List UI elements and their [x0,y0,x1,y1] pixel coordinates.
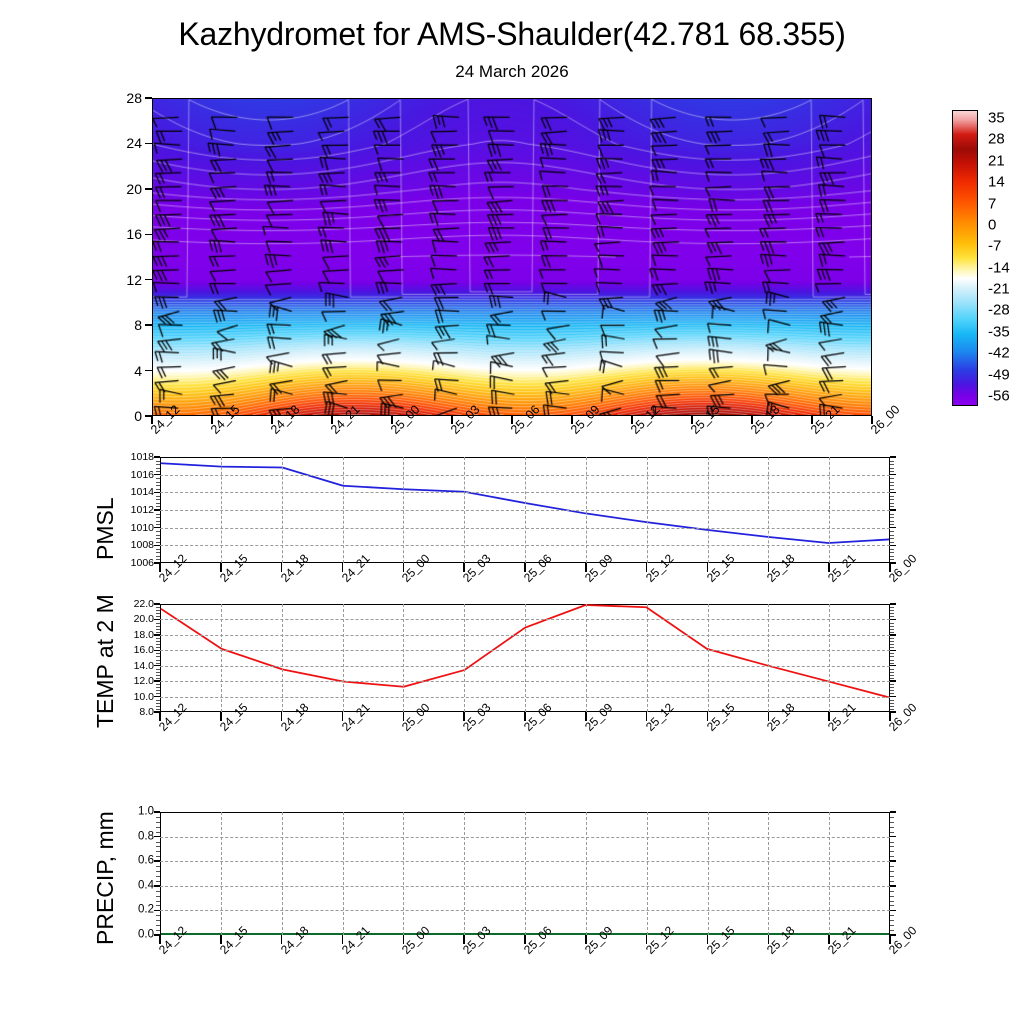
y-minor-tick [156,629,160,630]
y-minor-tick [890,817,894,818]
y-minor-tick [156,690,160,691]
y-minor-tick [890,905,894,906]
y-minor-tick [890,468,894,469]
y-tick-label: 16.0 [112,645,154,656]
y-minor-tick [890,647,894,648]
y-minor-tick [156,656,160,657]
y-minor-tick [156,693,160,694]
y-minor-tick [890,709,894,710]
colorbar-tick-label: 7 [988,196,996,211]
cross-section-plot [152,98,872,416]
y-minor-tick [890,461,894,462]
y-tick-label: 0.6 [112,855,154,867]
y-tick-label: 22.0 [112,599,154,610]
y-minor-tick [156,822,160,823]
y-minor-tick [156,653,160,654]
page-subtitle: 24 March 2026 [0,62,1024,82]
y-minor-tick [156,559,160,560]
colorbar-tick-label: -14 [988,260,1010,275]
y-minor-tick [156,675,160,676]
y-tick-mark [890,665,896,667]
y-tick-mark [890,562,896,564]
grid-line [708,812,709,935]
y-minor-tick [156,660,160,661]
y-minor-tick [890,503,894,504]
y-minor-tick [890,678,894,679]
y-minor-tick [890,556,894,557]
grid-line [586,604,587,712]
y-minor-tick [156,485,160,486]
y-minor-tick [890,703,894,704]
y-tick-label: 0.2 [112,905,154,917]
grid-line [403,604,404,712]
colorbar-tick-label: -56 [988,389,1010,404]
y-minor-tick [890,641,894,642]
y-minor-tick [156,461,160,462]
y-minor-tick [156,471,160,472]
grid-line [464,812,465,935]
y-tick-label: 1018 [112,452,154,463]
y-minor-tick [156,517,160,518]
y-minor-tick [890,822,894,823]
colorbar-tick-label: 21 [988,153,1005,168]
y-minor-tick [156,832,160,833]
y-minor-tick [156,678,160,679]
y-tick-mark [890,619,896,621]
y-tick-mark [154,811,160,813]
y-minor-tick [156,817,160,818]
y-minor-tick [890,629,894,630]
y-minor-tick [890,499,894,500]
grid-line [282,457,283,563]
y-tick-label: 1012 [112,505,154,516]
y-minor-tick [890,531,894,532]
y-minor-tick [156,464,160,465]
y-minor-tick [156,856,160,857]
grid-line [282,812,283,935]
y-tick-label: 12 [112,273,142,287]
page-title: Kazhydromet for AMS-Shaulder(42.781 68.3… [0,16,1024,53]
y-minor-tick [890,915,894,916]
grid-line [282,604,283,712]
cross-section-canvas [153,99,871,415]
y-minor-tick [156,499,160,500]
y-minor-tick [890,610,894,611]
y-tick-mark [890,545,896,547]
y-minor-tick [156,842,160,843]
y-minor-tick [890,925,894,926]
y-minor-tick [156,503,160,504]
y-tick-label: 4 [112,364,142,378]
y-minor-tick [156,687,160,688]
y-tick-mark [890,650,896,652]
y-tick-label: 0.8 [112,831,154,843]
y-minor-tick [890,832,894,833]
y-minor-tick [156,489,160,490]
grid-line [343,604,344,712]
y-minor-tick [156,616,160,617]
grid-line [343,457,344,563]
y-tick-label: 1016 [112,469,154,480]
y-minor-tick [156,623,160,624]
y-minor-tick [156,552,160,553]
y-minor-tick [156,925,160,926]
y-tick-mark [890,696,896,698]
y-minor-tick [890,521,894,522]
y-tick-mark [145,188,152,190]
grid-line [768,457,769,563]
temperature-colorbar [952,110,978,406]
y-minor-tick [156,626,160,627]
y-tick-label: 8.0 [112,707,154,718]
y-minor-tick [890,524,894,525]
y-minor-tick [890,672,894,673]
x-tick-label: 26_00 [868,402,902,436]
y-minor-tick [890,656,894,657]
y-minor-tick [156,846,160,847]
y-minor-tick [890,607,894,608]
y-minor-tick [890,549,894,550]
y-minor-tick [156,669,160,670]
y-minor-tick [156,703,160,704]
y-tick-label: 0 [112,409,142,423]
y-minor-tick [890,901,894,902]
y-minor-tick [890,871,894,872]
y-tick-label: 0.0 [112,929,154,941]
y-minor-tick [890,684,894,685]
y-tick-label: 24 [112,136,142,150]
y-minor-tick [890,506,894,507]
y-tick-mark [890,910,896,912]
grid-line [768,604,769,712]
y-tick-mark [890,680,896,682]
y-minor-tick [156,896,160,897]
y-tick-label: 1010 [112,522,154,533]
y-minor-tick [156,524,160,525]
y-minor-tick [156,647,160,648]
y-minor-tick [156,709,160,710]
y-minor-tick [890,478,894,479]
y-minor-tick [890,482,894,483]
forecast-meteogram: Kazhydromet for AMS-Shaulder(42.781 68.3… [0,0,1024,1024]
y-minor-tick [890,876,894,877]
y-minor-tick [156,514,160,515]
y-minor-tick [890,675,894,676]
y-minor-tick [890,514,894,515]
grid-line [829,604,830,712]
y-tick-mark [890,811,896,813]
grid-line [221,604,222,712]
grid-line [464,604,465,712]
y-minor-tick [156,851,160,852]
grid-line [829,812,830,935]
y-minor-tick [156,610,160,611]
grid-line [647,604,648,712]
y-tick-mark [890,711,896,713]
y-minor-tick [156,684,160,685]
y-tick-mark [145,324,152,326]
y-minor-tick [156,641,160,642]
y-tick-mark [890,860,896,862]
y-minor-tick [890,706,894,707]
y-minor-tick [156,607,160,608]
y-tick-mark [890,603,896,605]
y-tick-mark [890,527,896,529]
y-minor-tick [890,616,894,617]
y-minor-tick [156,876,160,877]
y-minor-tick [156,663,160,664]
y-minor-tick [890,471,894,472]
y-minor-tick [156,915,160,916]
y-tick-mark [890,456,896,458]
y-tick-label: 18.0 [112,630,154,641]
y-minor-tick [156,531,160,532]
y-minor-tick [890,930,894,931]
y-minor-tick [890,496,894,497]
colorbar-tick-label: 35 [988,111,1005,126]
y-minor-tick [156,644,160,645]
y-minor-tick [156,871,160,872]
y-minor-tick [890,517,894,518]
colorbar-tick-label: -35 [988,324,1010,339]
y-minor-tick [156,700,160,701]
y-tick-mark [145,370,152,372]
y-minor-tick [890,535,894,536]
y-minor-tick [890,842,894,843]
grid-line [525,457,526,563]
y-minor-tick [890,653,894,654]
y-minor-tick [890,626,894,627]
y-minor-tick [156,506,160,507]
y-minor-tick [890,851,894,852]
grid-line [708,457,709,563]
colorbar-tick-label: 14 [988,175,1005,190]
y-tick-mark [145,143,152,145]
y-minor-tick [156,613,160,614]
y-minor-tick [156,521,160,522]
grid-line [829,457,830,563]
y-tick-label: 12.0 [112,676,154,687]
y-minor-tick [890,542,894,543]
y-minor-tick [890,693,894,694]
grid-line [464,457,465,563]
y-tick-label: 0.4 [112,880,154,892]
y-minor-tick [156,672,160,673]
y-minor-tick [890,632,894,633]
y-tick-mark [890,836,896,838]
y-minor-tick [890,552,894,553]
grid-line [403,812,404,935]
y-minor-tick [156,827,160,828]
y-minor-tick [890,896,894,897]
grid-line [768,812,769,935]
y-minor-tick [890,464,894,465]
y-minor-tick [890,638,894,639]
y-minor-tick [156,930,160,931]
y-minor-tick [156,556,160,557]
y-minor-tick [156,881,160,882]
colorbar-tick-label: -28 [988,303,1010,318]
grid-line [221,812,222,935]
y-minor-tick [890,866,894,867]
y-minor-tick [156,638,160,639]
y-minor-tick [890,669,894,670]
y-tick-label: 20 [112,182,142,196]
grid-line [343,812,344,935]
y-minor-tick [890,613,894,614]
y-minor-tick [156,905,160,906]
y-tick-mark [154,603,160,605]
y-minor-tick [156,542,160,543]
y-minor-tick [890,920,894,921]
y-minor-tick [890,891,894,892]
y-tick-mark [890,492,896,494]
y-tick-label: 1014 [112,487,154,498]
y-minor-tick [156,706,160,707]
y-minor-tick [156,496,160,497]
colorbar-tick-label: -49 [988,367,1010,382]
y-tick-mark [145,279,152,281]
y-minor-tick [890,687,894,688]
y-tick-label: 1008 [112,540,154,551]
grid-line [586,457,587,563]
y-minor-tick [890,881,894,882]
colorbar-tick-label: 0 [988,217,996,232]
y-minor-tick [156,901,160,902]
y-minor-tick [890,538,894,539]
y-minor-tick [156,535,160,536]
y-tick-label: 1.0 [112,806,154,818]
grid-line [647,457,648,563]
y-minor-tick [890,856,894,857]
y-minor-tick [156,478,160,479]
y-minor-tick [156,468,160,469]
y-tick-mark [890,934,896,936]
y-minor-tick [890,644,894,645]
y-minor-tick [890,489,894,490]
x-tick-label: 26_00 [886,923,919,956]
y-tick-label: 14.0 [112,660,154,671]
y-minor-tick [156,891,160,892]
y-tick-label: 28 [112,91,142,105]
y-minor-tick [890,846,894,847]
y-tick-mark [890,885,896,887]
y-minor-tick [890,700,894,701]
grid-line [647,812,648,935]
y-minor-tick [156,920,160,921]
y-tick-mark [145,97,152,99]
y-minor-tick [890,559,894,560]
y-tick-mark [145,234,152,236]
y-minor-tick [890,690,894,691]
y-tick-mark [890,474,896,476]
grid-line [708,604,709,712]
y-tick-label: 20.0 [112,614,154,625]
y-minor-tick [890,660,894,661]
grid-line [221,457,222,563]
y-minor-tick [890,485,894,486]
y-tick-label: 10.0 [112,691,154,702]
y-minor-tick [156,538,160,539]
y-minor-tick [890,663,894,664]
y-tick-mark [890,634,896,636]
colorbar-tick-label: -21 [988,282,1010,297]
y-tick-label: 1006 [112,558,154,569]
y-minor-tick [156,632,160,633]
colorbar-tick-label: -7 [988,239,1001,254]
grid-line [525,604,526,712]
y-tick-mark [890,509,896,511]
y-minor-tick [156,866,160,867]
y-minor-tick [156,482,160,483]
grid-line [525,812,526,935]
grid-line [403,457,404,563]
colorbar-tick-label: -42 [988,346,1010,361]
grid-line [586,812,587,935]
y-minor-tick [156,549,160,550]
y-minor-tick [890,623,894,624]
y-minor-tick [890,827,894,828]
y-tick-label: 16 [112,227,142,241]
y-tick-mark [154,456,160,458]
colorbar-tick-label: 28 [988,132,1005,147]
y-tick-label: 8 [112,318,142,332]
